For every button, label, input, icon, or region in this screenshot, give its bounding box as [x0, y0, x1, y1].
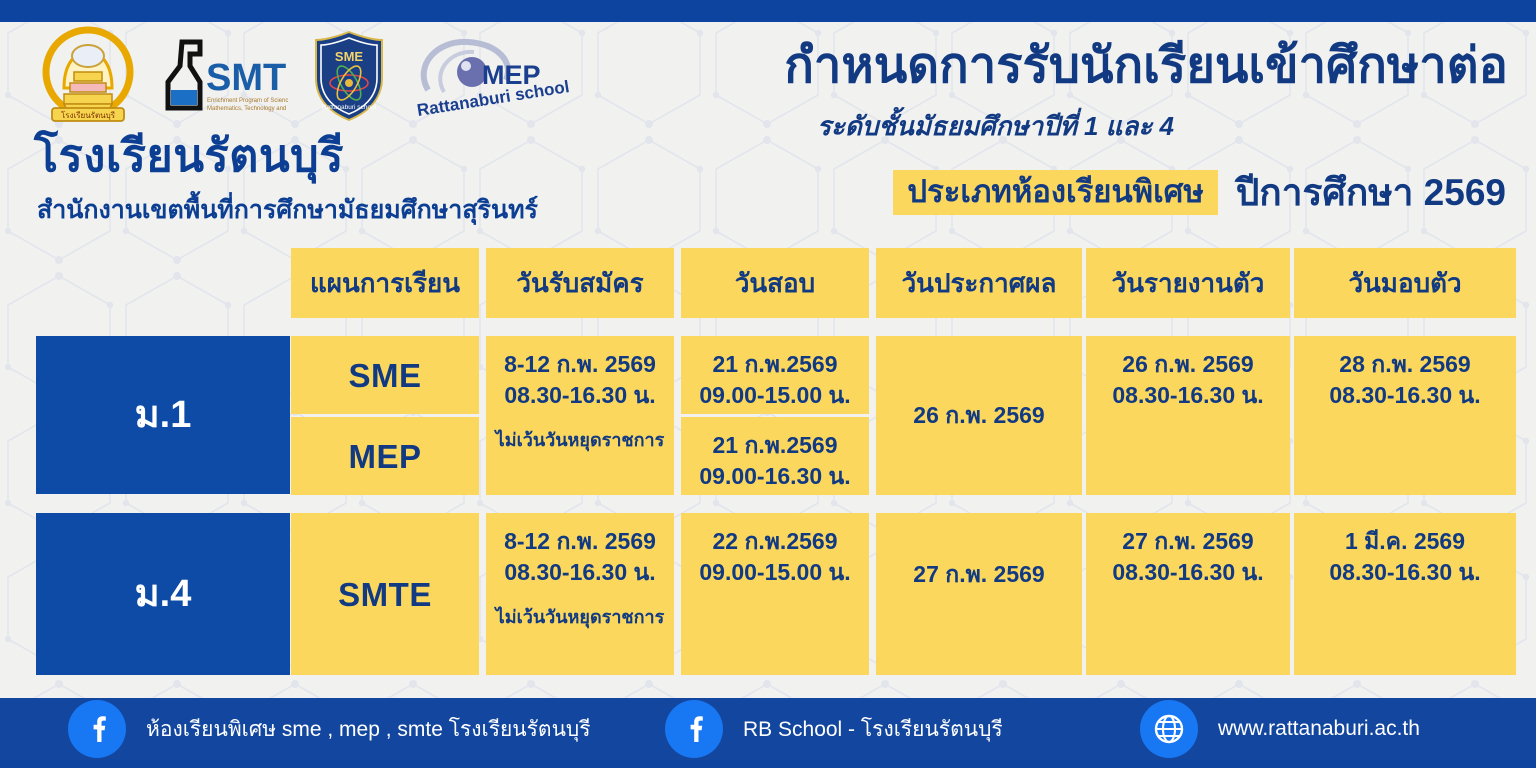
- confirm-date: 1 มี.ค. 2569: [1345, 527, 1465, 556]
- exam-date: 21 ก.พ.2569: [712, 431, 837, 460]
- confirm-time: 08.30-16.30 น.: [1329, 558, 1480, 587]
- column-header-exam: วันสอบ: [681, 248, 869, 318]
- logo-group: โรงเรียนรัตนบุรี SMTE Enrichment Program…: [34, 26, 580, 131]
- footer-item-website[interactable]: www.rattanaburi.ac.th: [1140, 700, 1420, 758]
- footer-item-facebook-school[interactable]: RB School - โรงเรียนรัตนบุรี: [665, 700, 1003, 758]
- facebook-icon[interactable]: [68, 700, 126, 758]
- exam-cell-m4: 22 ก.พ.2569 09.00-15.00 น.: [681, 513, 869, 675]
- exam-time: 09.00-16.30 น.: [699, 462, 850, 491]
- top-blue-bar: [0, 0, 1536, 22]
- column-header-apply: วันรับสมัคร: [486, 248, 674, 318]
- apply-note: ไม่เว้นวันหยุดราชการ: [496, 606, 665, 629]
- svg-text:Enrichment Program of Science: Enrichment Program of Science: [207, 98, 288, 104]
- footer-item-facebook-special[interactable]: ห้องเรียนพิเศษ sme , mep , smte โรงเรียน…: [68, 700, 591, 758]
- svg-text:Rattanaburi school: Rattanaburi school: [322, 104, 377, 111]
- apply-note: ไม่เว้นวันหยุดราชการ: [496, 429, 665, 452]
- school-emblem-logo: โรงเรียนรัตนบุรี: [34, 26, 142, 131]
- svg-text:Mathematics, Technology and En: Mathematics, Technology and Environment: [207, 106, 288, 112]
- apply-cell-m1: 8-12 ก.พ. 2569 08.30-16.30 น. ไม่เว้นวัน…: [486, 336, 674, 495]
- exam-date: 22 ก.พ.2569: [712, 527, 837, 556]
- report-cell-m1: 26 ก.พ. 2569 08.30-16.30 น.: [1086, 336, 1290, 495]
- school-office-name: สำนักงานเขตพื้นที่การศึกษามัธยมศึกษาสุริ…: [37, 198, 538, 223]
- apply-time: 08.30-16.30 น.: [504, 381, 655, 410]
- announce-cell-m1: 26 ก.พ. 2569: [876, 336, 1082, 495]
- globe-icon[interactable]: [1140, 700, 1198, 758]
- column-header-confirm: วันมอบตัว: [1294, 248, 1516, 318]
- program-cell-smte: SMTE: [291, 513, 479, 675]
- sme-shield-logo: SME Rattanaburi school: [306, 28, 392, 129]
- exam-cell-m1-mep: 21 ก.พ.2569 09.00-16.30 น.: [681, 417, 869, 495]
- svg-text:SMTE: SMTE: [206, 57, 288, 99]
- report-time: 08.30-16.30 น.: [1112, 558, 1263, 587]
- exam-cell-m1-sme: 21 ก.พ.2569 09.00-15.00 น.: [681, 336, 869, 414]
- smte-logo: SMTE Enrichment Program of Science Mathe…: [160, 36, 288, 123]
- column-header-report: วันรายงานตัว: [1086, 248, 1290, 318]
- poster-subtitle: ระดับชั้นมัธยมศึกษาปีที่ 1 และ 4: [817, 113, 1174, 139]
- report-time: 08.30-16.30 น.: [1112, 381, 1263, 410]
- poster-canvas: โรงเรียนรัตนบุรี SMTE Enrichment Program…: [0, 0, 1536, 768]
- announce-cell-m4: 27 ก.พ. 2569: [876, 513, 1082, 675]
- apply-time: 08.30-16.30 น.: [504, 558, 655, 587]
- svg-text:โรงเรียนรัตนบุรี: โรงเรียนรัตนบุรี: [61, 110, 116, 120]
- facebook-icon[interactable]: [665, 700, 723, 758]
- exam-date: 21 ก.พ.2569: [712, 350, 837, 379]
- confirm-date: 28 ก.พ. 2569: [1339, 350, 1470, 379]
- announce-date: 26 ก.พ. 2569: [913, 401, 1044, 430]
- exam-time: 09.00-15.00 น.: [699, 381, 850, 410]
- apply-date: 8-12 ก.พ. 2569: [504, 527, 656, 556]
- bottom-blue-bar: [0, 760, 1536, 768]
- report-cell-m4: 27 ก.พ. 2569 08.30-16.30 น.: [1086, 513, 1290, 675]
- footer-text: ห้องเรียนพิเศษ sme , mep , smte โรงเรียน…: [146, 713, 591, 746]
- exam-time: 09.00-15.00 น.: [699, 558, 850, 587]
- confirm-cell-m4: 1 มี.ค. 2569 08.30-16.30 น.: [1294, 513, 1516, 675]
- grade-cell-m1: ม.1: [36, 336, 290, 494]
- footer-text: www.rattanaburi.ac.th: [1218, 717, 1420, 741]
- poster-title: กำหนดการรับนักเรียนเข้าศึกษาต่อ: [784, 42, 1508, 91]
- program-cell-sme: SME: [291, 336, 479, 414]
- report-date: 26 ก.พ. 2569: [1122, 350, 1253, 379]
- mep-logo: MEP Rattanaburi school: [410, 30, 580, 127]
- svg-text:SME: SME: [335, 49, 364, 64]
- footer-text: RB School - โรงเรียนรัตนบุรี: [743, 713, 1003, 746]
- program-type-badge: ประเภทห้องเรียนพิเศษ: [893, 170, 1217, 215]
- confirm-time: 08.30-16.30 น.: [1329, 381, 1480, 410]
- report-date: 27 ก.พ. 2569: [1122, 527, 1253, 556]
- academic-year: ปีการศึกษา 2569: [1236, 174, 1506, 211]
- program-cell-mep: MEP: [291, 417, 479, 495]
- badge-row: ประเภทห้องเรียนพิเศษ ปีการศึกษา 2569: [893, 170, 1506, 215]
- column-header-announce: วันประกาศผล: [876, 248, 1082, 318]
- announce-date: 27 ก.พ. 2569: [913, 560, 1044, 589]
- apply-cell-m4: 8-12 ก.พ. 2569 08.30-16.30 น. ไม่เว้นวัน…: [486, 513, 674, 675]
- grade-cell-m4: ม.4: [36, 513, 290, 675]
- confirm-cell-m1: 28 ก.พ. 2569 08.30-16.30 น.: [1294, 336, 1516, 495]
- apply-date: 8-12 ก.พ. 2569: [504, 350, 656, 379]
- contact-footer: ห้องเรียนพิเศษ sme , mep , smte โรงเรียน…: [0, 698, 1536, 760]
- column-header-plan: แผนการเรียน: [291, 248, 479, 318]
- school-name: โรงเรียนรัตนบุรี: [34, 133, 344, 178]
